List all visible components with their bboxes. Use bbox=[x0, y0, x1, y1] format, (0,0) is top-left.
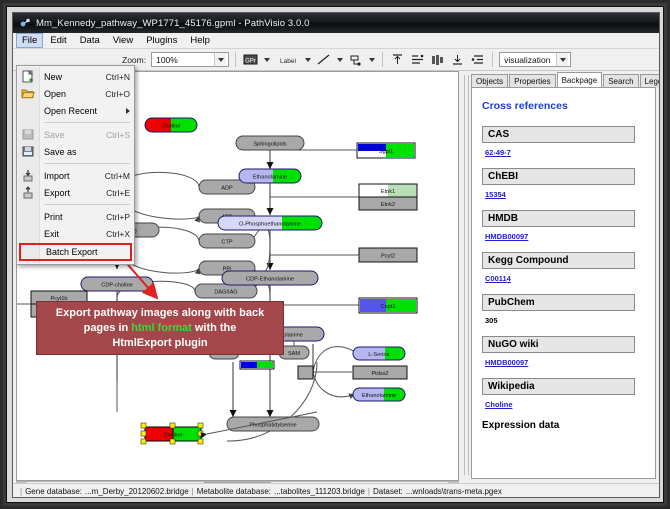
menu-item-print[interactable]: Print Ctrl+P bbox=[17, 208, 134, 225]
align-left-icon[interactable] bbox=[409, 51, 426, 68]
xref-value-chebi[interactable]: 15354 bbox=[485, 190, 645, 199]
xref-label-pubchem: PubChem bbox=[482, 294, 635, 311]
status-gene-database-label: Gene database: bbox=[25, 487, 82, 496]
menu-plugins[interactable]: Plugins bbox=[140, 33, 183, 48]
window-title: Mm_Kennedy_pathway_WP1771_45176.gpml - P… bbox=[36, 18, 310, 29]
menu-item-open-recent[interactable]: Open Recent bbox=[17, 102, 134, 119]
status-divider-2: | bbox=[365, 487, 373, 496]
screenshot-root: Mm_Kennedy_pathway_WP1771_45176.gpml - P… bbox=[0, 0, 670, 509]
svg-text:Label: Label bbox=[280, 58, 296, 65]
menu-separator-3 bbox=[44, 204, 130, 205]
callout-line-2: pages in html format with the bbox=[84, 321, 237, 336]
menu-item-new[interactable]: New Ctrl+N bbox=[17, 68, 134, 85]
svg-text:CTP: CTP bbox=[221, 240, 232, 246]
menu-item-save: Save Ctrl+S bbox=[17, 126, 134, 143]
tab-legend[interactable]: Legend bbox=[640, 74, 660, 88]
svg-text:Choline: Choline bbox=[162, 124, 181, 130]
node-ctp: CTP bbox=[199, 234, 255, 248]
zoom-value: 100% bbox=[156, 55, 214, 65]
pathvisio-window: Mm_Kennedy_pathway_WP1771_45176.gpml - P… bbox=[12, 12, 660, 498]
svg-text:O-Phosphoethanolamine: O-Phosphoethanolamine bbox=[239, 222, 301, 228]
save-as-icon bbox=[21, 145, 35, 158]
align-right-icon[interactable] bbox=[469, 51, 486, 68]
svg-text:Etnk1: Etnk1 bbox=[381, 189, 395, 195]
menu-bar[interactable]: File Edit Data View Plugins Help bbox=[13, 33, 660, 49]
xref-value-hmdb[interactable]: HMDB00097 bbox=[485, 232, 645, 241]
svg-text:Pcyt2: Pcyt2 bbox=[381, 254, 395, 260]
xref-label-kegg-compound: Kegg Compound bbox=[482, 252, 635, 269]
window-titlebar: Mm_Kennedy_pathway_WP1771_45176.gpml - P… bbox=[13, 13, 660, 33]
tab-properties[interactable]: Properties bbox=[509, 74, 555, 88]
node-cept1: Cept1 bbox=[359, 298, 417, 313]
interaction-tool-icon[interactable] bbox=[347, 51, 364, 68]
svg-text:L-Serine: L-Serine bbox=[368, 352, 389, 358]
menu-item-batch-export[interactable]: Batch Export bbox=[19, 243, 132, 261]
xref-value-pubchem: 305 bbox=[485, 316, 645, 325]
new-document-icon bbox=[21, 70, 35, 83]
cross-references-heading: Cross references bbox=[482, 100, 645, 112]
align-middle-icon[interactable] bbox=[449, 51, 466, 68]
submenu-arrow-icon bbox=[126, 108, 130, 114]
node-phosphatidylserine: Phosphatidylserine bbox=[227, 417, 319, 431]
xref-label-chebi: ChEBI bbox=[482, 168, 635, 185]
svg-text:Ethanolamine: Ethanolamine bbox=[253, 175, 287, 181]
chevron-down-icon[interactable] bbox=[214, 53, 226, 66]
menu-item-import[interactable]: Import Ctrl+M bbox=[17, 167, 134, 184]
status-bar: | Gene database: ...m_Derby_20120602.bri… bbox=[13, 483, 660, 498]
node-choline-top: Choline bbox=[145, 118, 197, 132]
visualization-combo[interactable]: visualization bbox=[499, 52, 571, 67]
node-o-phosphoethanolamine: O-Phosphoethanolamine bbox=[218, 216, 322, 230]
visualization-chevron-down-icon[interactable] bbox=[556, 53, 568, 66]
zoom-combo[interactable]: 100% bbox=[151, 52, 229, 67]
callout-line-2-before: pages in bbox=[84, 322, 132, 334]
svg-text:Ethanolamine: Ethanolamine bbox=[362, 393, 396, 399]
tab-backpage[interactable]: Backpage bbox=[557, 72, 603, 88]
svg-text:ADP: ADP bbox=[221, 186, 233, 192]
status-divider-1: | bbox=[189, 487, 197, 496]
status-gene-database-value: ...m_Derby_20120602.bridge bbox=[82, 487, 189, 496]
gene-product-tool-icon[interactable]: GPr bbox=[242, 51, 259, 68]
node-pcyt2: Pcyt2 bbox=[359, 248, 417, 262]
backpage-content: Cross references CAS 62-49-7 ChEBI 15354… bbox=[471, 87, 656, 479]
menu-separator-1 bbox=[44, 122, 130, 123]
svg-text:CDP-choline: CDP-choline bbox=[101, 283, 132, 289]
node-l-serine: L-Serine bbox=[353, 347, 405, 360]
svg-text:GPr: GPr bbox=[245, 58, 256, 64]
callout-highlight: html format bbox=[131, 322, 192, 334]
label-dropdown-icon[interactable] bbox=[303, 52, 312, 67]
svg-text:Cept1: Cept1 bbox=[381, 304, 396, 310]
node-ptdss2: Ptdss2 bbox=[353, 366, 407, 379]
status-dataset-value: ...wnloads\trans-meta.pgex bbox=[403, 487, 502, 496]
menu-view[interactable]: View bbox=[107, 33, 139, 48]
node-etnk1: Etnk1 bbox=[359, 184, 417, 197]
align-center-icon[interactable] bbox=[429, 51, 446, 68]
export-icon bbox=[21, 186, 35, 199]
tab-objects[interactable]: Objects bbox=[471, 74, 508, 88]
expression-data-heading: Expression data bbox=[482, 420, 645, 431]
toolbar-separator bbox=[235, 52, 236, 67]
open-folder-icon bbox=[21, 87, 35, 100]
menu-edit[interactable]: Edit bbox=[44, 33, 72, 48]
menu-item-export[interactable]: Export Ctrl+E bbox=[17, 184, 134, 201]
node-sphingolipids: Sphingolipids bbox=[236, 136, 304, 150]
xref-label-nugo-wiki: NuGO wiki bbox=[482, 336, 635, 353]
menu-separator-2 bbox=[44, 163, 130, 164]
label-tool-icon[interactable]: Label bbox=[274, 51, 300, 68]
menu-item-exit[interactable]: Exit Ctrl+X bbox=[17, 225, 134, 242]
toolbar-separator-2 bbox=[382, 52, 383, 67]
svg-text:Etnk2: Etnk2 bbox=[381, 202, 395, 208]
zoom-label: Zoom: bbox=[122, 55, 146, 65]
menu-help[interactable]: Help bbox=[184, 33, 216, 48]
line-tool-icon[interactable] bbox=[315, 51, 332, 68]
xref-value-kegg-compound[interactable]: C00114 bbox=[485, 274, 645, 283]
menu-file[interactable]: File bbox=[16, 33, 43, 48]
menu-item-save-as[interactable]: Save as bbox=[17, 143, 134, 160]
visualization-value: visualization bbox=[504, 55, 556, 65]
svg-text:Ptdss2: Ptdss2 bbox=[371, 371, 388, 377]
svg-text:Choline: Choline bbox=[164, 433, 183, 439]
node-ethanolamine-bottom: Ethanolamine bbox=[353, 388, 405, 401]
panel-tabs[interactable]: Objects Properties Backpage Search Legen… bbox=[471, 73, 660, 88]
menu-data[interactable]: Data bbox=[74, 33, 106, 48]
svg-text:CDP-Ethanolamine: CDP-Ethanolamine bbox=[246, 277, 294, 283]
xref-value-nugo-wiki[interactable]: HMDB00097 bbox=[485, 358, 645, 367]
node-ethanolamine-top: Ethanolamine bbox=[239, 169, 301, 183]
interaction-dropdown-icon[interactable] bbox=[367, 52, 376, 67]
node-cdp-ethanolamine: CDP-Ethanolamine bbox=[222, 271, 318, 285]
callout-line-1: Export pathway images along with back bbox=[56, 306, 264, 321]
xref-value-cas[interactable]: 62-49-7 bbox=[485, 148, 645, 157]
tab-search[interactable]: Search bbox=[603, 74, 638, 88]
callout-line-2-after: with the bbox=[192, 322, 237, 334]
xref-value-wikipedia[interactable]: Choline bbox=[485, 400, 645, 409]
line-dropdown-icon[interactable] bbox=[335, 52, 344, 67]
xref-label-wikipedia: Wikipedia bbox=[482, 378, 635, 395]
menu-item-open[interactable]: Open Ctrl+O bbox=[17, 85, 134, 102]
toolbar-separator-3 bbox=[492, 52, 493, 67]
status-metabolite-database-label: Metabolite database: bbox=[197, 487, 271, 496]
pathvisio-app-icon bbox=[19, 17, 31, 29]
right-side-panel: Objects Properties Backpage Search Legen… bbox=[463, 71, 658, 481]
node-dag-iag: DAG/IAG bbox=[195, 284, 257, 298]
node-cdp-choline: CDP-choline bbox=[81, 277, 153, 291]
panel-splitter-handle[interactable] bbox=[464, 75, 469, 475]
import-icon bbox=[21, 169, 35, 182]
svg-text:DAG/IAG: DAG/IAG bbox=[214, 290, 237, 296]
xref-label-cas: CAS bbox=[482, 126, 635, 143]
annotation-callout: Export pathway images along with back pa… bbox=[36, 301, 284, 355]
svg-text:Sphingolipids: Sphingolipids bbox=[253, 142, 286, 148]
node-methylation-swatch bbox=[240, 361, 274, 369]
gene-product-dropdown-icon[interactable] bbox=[262, 52, 271, 67]
file-menu-dropdown[interactable]: New Ctrl+N Open Ctrl+O Open Recent Save bbox=[16, 65, 135, 265]
status-metabolite-database-value: ...tabolites_111203.bridge bbox=[271, 487, 365, 496]
status-dataset-label: Dataset: bbox=[373, 487, 403, 496]
xref-label-hmdb: HMDB bbox=[482, 210, 635, 227]
node-sgpl1: Sgpl1 bbox=[357, 143, 415, 158]
node-etnk2: Etnk2 bbox=[359, 197, 417, 210]
svg-text:Phosphatidylserine: Phosphatidylserine bbox=[249, 423, 296, 429]
status-divider-0: | bbox=[17, 487, 25, 496]
node-anchor-box bbox=[298, 366, 313, 379]
align-top-icon[interactable] bbox=[389, 51, 406, 68]
save-disk-icon bbox=[21, 128, 35, 141]
callout-line-3: HtmlExport plugin bbox=[112, 336, 207, 351]
svg-text:SAM: SAM bbox=[288, 351, 300, 357]
svg-text:Sgpl1: Sgpl1 bbox=[379, 149, 393, 155]
